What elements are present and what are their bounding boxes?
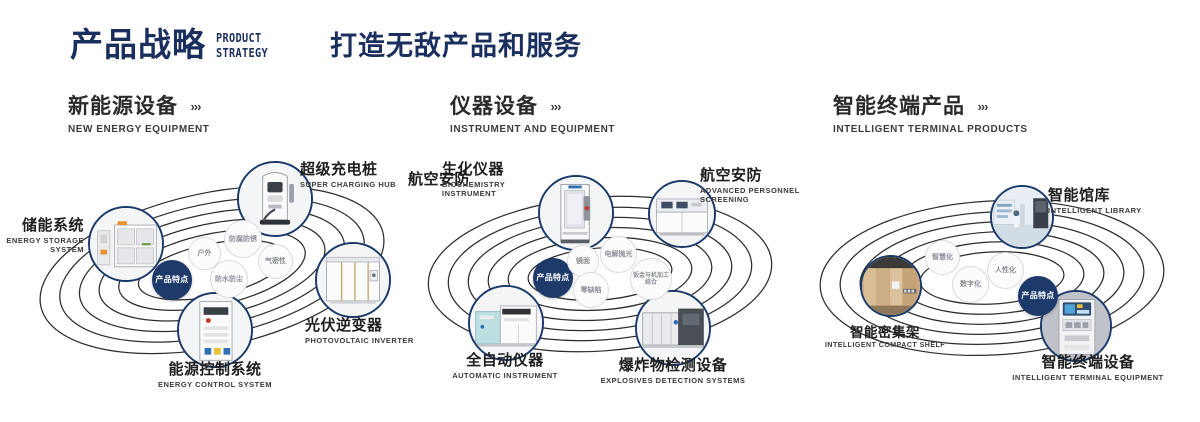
feature-bubble-zero-defect: 零缺陷 [573, 272, 609, 308]
section-heading-intelligent-terminal: 智能终端产品 ››› INTELLIGENT TERMINAL PRODUCTS [833, 96, 1028, 135]
section-heading-new-energy: 新能源设备 ››› NEW ENERGY EQUIPMENT [68, 96, 209, 135]
feature-label: 户外 [198, 249, 212, 257]
feature-bubble-digital: 数字化 [952, 266, 989, 303]
label-intelligent-terminal-equipment: 智能终端设备 INTELLIGENT TERMINAL EQUIPMENT [988, 355, 1188, 382]
cluster-new-energy-equipment: 储能系统 ENERGY STORAGE SYSTEM 超级充电桩 SUPER C… [0, 150, 420, 395]
label-automatic-instrument: 全自动仪器 AUTOMATIC INSTRUMENT [415, 353, 595, 380]
node-label-cn: 爆炸物检测设备 [583, 358, 763, 374]
node-label-en: ENERGY CONTROL SYSTEM [110, 380, 320, 389]
node-label-cn: 储能系统 [0, 218, 84, 234]
feature-label: 防腐防锈 [229, 235, 257, 243]
product-strategy-infographic: 产品战略 PRODUCT STRATEGY 打造无敌产品和服务 新能源设备 ››… [0, 0, 1200, 422]
chevron-right-icon: ››› [190, 99, 200, 114]
label-biochemistry-instrument: 生化仪器 BIOCHEMISTRY INSTRUMENT [442, 162, 552, 199]
section-title-en: INSTRUMENT AND EQUIPMENT [450, 124, 615, 135]
feature-bubble-waterproof-dustproof: 防水防尘 [210, 260, 248, 298]
inverter-cabinet-icon [317, 244, 389, 316]
feature-label: 数字化 [960, 280, 981, 288]
label-energy-storage-system: 储能系统 ENERGY STORAGE SYSTEM [0, 218, 84, 255]
label-energy-control-system: 能源控制系统 ENERGY CONTROL SYSTEM [110, 362, 320, 389]
cluster-intelligent-terminal-products: 智能馆库 INTELLIGENT LIBRARY 智能终端设备 IN [790, 150, 1200, 395]
node-label-cn: 生化仪器 [442, 162, 552, 178]
node-label-cn: 能源控制系统 [110, 362, 320, 378]
page-title: 产品战略 [70, 28, 206, 61]
feature-core-new-energy: 产品特点 [152, 260, 192, 300]
node-label-cn: 智能密集架 [800, 326, 970, 340]
page-title-english-line2: STRATEGY [216, 46, 268, 61]
feature-core-label: 产品特点 [155, 275, 188, 284]
node-label-en: INTELLIGENT COMPACT SHELF [800, 342, 970, 351]
page-subtitle: 打造无敌产品和服务 [330, 33, 582, 60]
node-explosives-detection-systems[interactable] [635, 290, 711, 366]
section-title-en: INTELLIGENT TERMINAL PRODUCTS [833, 124, 1028, 135]
control-cabinet-icon [179, 294, 251, 366]
node-label-cn: 智能终端设备 [988, 355, 1188, 371]
feature-label: 气密性 [265, 257, 286, 265]
feature-core-label: 产品特点 [1021, 291, 1054, 300]
feature-bubble-airtightness: 气密性 [258, 244, 293, 279]
label-intelligent-library: 智能馆库 INTELLIGENT LIBRARY [1048, 188, 1178, 215]
node-label-en: AUTOMATIC INSTRUMENT [415, 371, 595, 380]
page-header: 产品战略 PRODUCT STRATEGY 打造无敌产品和服务 [0, 0, 1200, 86]
node-label-cn: 智能馆库 [1048, 188, 1178, 204]
battery-cabinet-icon [90, 208, 162, 280]
automatic-instrument-icon [470, 287, 542, 359]
library-room-icon [992, 187, 1052, 247]
section-title-cn: 新能源设备 [68, 96, 178, 117]
compact-shelf-icon [862, 257, 920, 315]
feature-bubble-humanized: 人性化 [987, 252, 1024, 289]
label-intelligent-compact-shelf: 智能密集架 INTELLIGENT COMPACT SHELF [800, 326, 970, 351]
label-explosives-detection-systems: 爆炸物检测设备 EXPLOSIVES DETECTION SYSTEMS [583, 358, 763, 385]
node-label-en: INTELLIGENT TERMINAL EQUIPMENT [988, 373, 1188, 382]
node-label-en: ENERGY STORAGE SYSTEM [0, 236, 84, 255]
feature-label: 镜面 [576, 257, 590, 265]
feature-label: 零缺陷 [581, 286, 602, 294]
node-photovoltaic-inverter[interactable] [315, 242, 391, 318]
node-energy-control-system[interactable] [177, 292, 253, 368]
node-label-en: INTELLIGENT LIBRARY [1048, 206, 1178, 215]
node-automatic-instrument[interactable] [468, 285, 544, 361]
feature-core-label: 产品特点 [536, 273, 569, 282]
feature-bubble-sheetmetal-machining: 钣金与机加工结合 [630, 258, 672, 300]
page-title-english-line1: PRODUCT [216, 31, 268, 46]
feature-label: 人性化 [995, 266, 1016, 274]
chevron-right-icon: ››› [550, 99, 560, 114]
feature-bubble-electrolytic-polishing: 电解抛光 [600, 236, 637, 273]
feature-label: 智慧化 [932, 253, 953, 261]
node-intelligent-compact-shelf[interactable] [860, 255, 922, 317]
section-title-cn: 智能终端产品 [833, 96, 965, 117]
cluster-instrument-and-equipment: 航空安防 生化仪器 BIOCHEMISTRY INSTRUMENT [395, 150, 805, 395]
feature-bubble-intelligent: 智慧化 [925, 240, 960, 275]
section-title-cn: 仪器设备 [450, 96, 538, 117]
node-energy-storage-system[interactable] [88, 206, 164, 282]
chevron-right-icon: ››› [977, 99, 987, 114]
feature-label: 钣金与机加工结合 [631, 272, 671, 286]
feature-bubble-anticorrosion: 防腐防锈 [224, 220, 262, 258]
feature-label: 防水防尘 [215, 275, 243, 283]
feature-label: 电解抛光 [605, 250, 633, 258]
node-label-en: EXPLOSIVES DETECTION SYSTEMS [583, 376, 763, 385]
section-heading-instrument: 仪器设备 ››› INSTRUMENT AND EQUIPMENT [450, 96, 615, 135]
explosives-detector-icon [637, 292, 709, 364]
page-title-english: PRODUCT STRATEGY [216, 31, 268, 61]
node-label-en: BIOCHEMISTRY INSTRUMENT [442, 180, 552, 199]
node-intelligent-library[interactable] [990, 185, 1054, 249]
section-title-en: NEW ENERGY EQUIPMENT [68, 124, 209, 135]
feature-core-intelligent-terminal: 产品特点 [1018, 276, 1058, 316]
node-label-cn: 全自动仪器 [415, 353, 595, 369]
